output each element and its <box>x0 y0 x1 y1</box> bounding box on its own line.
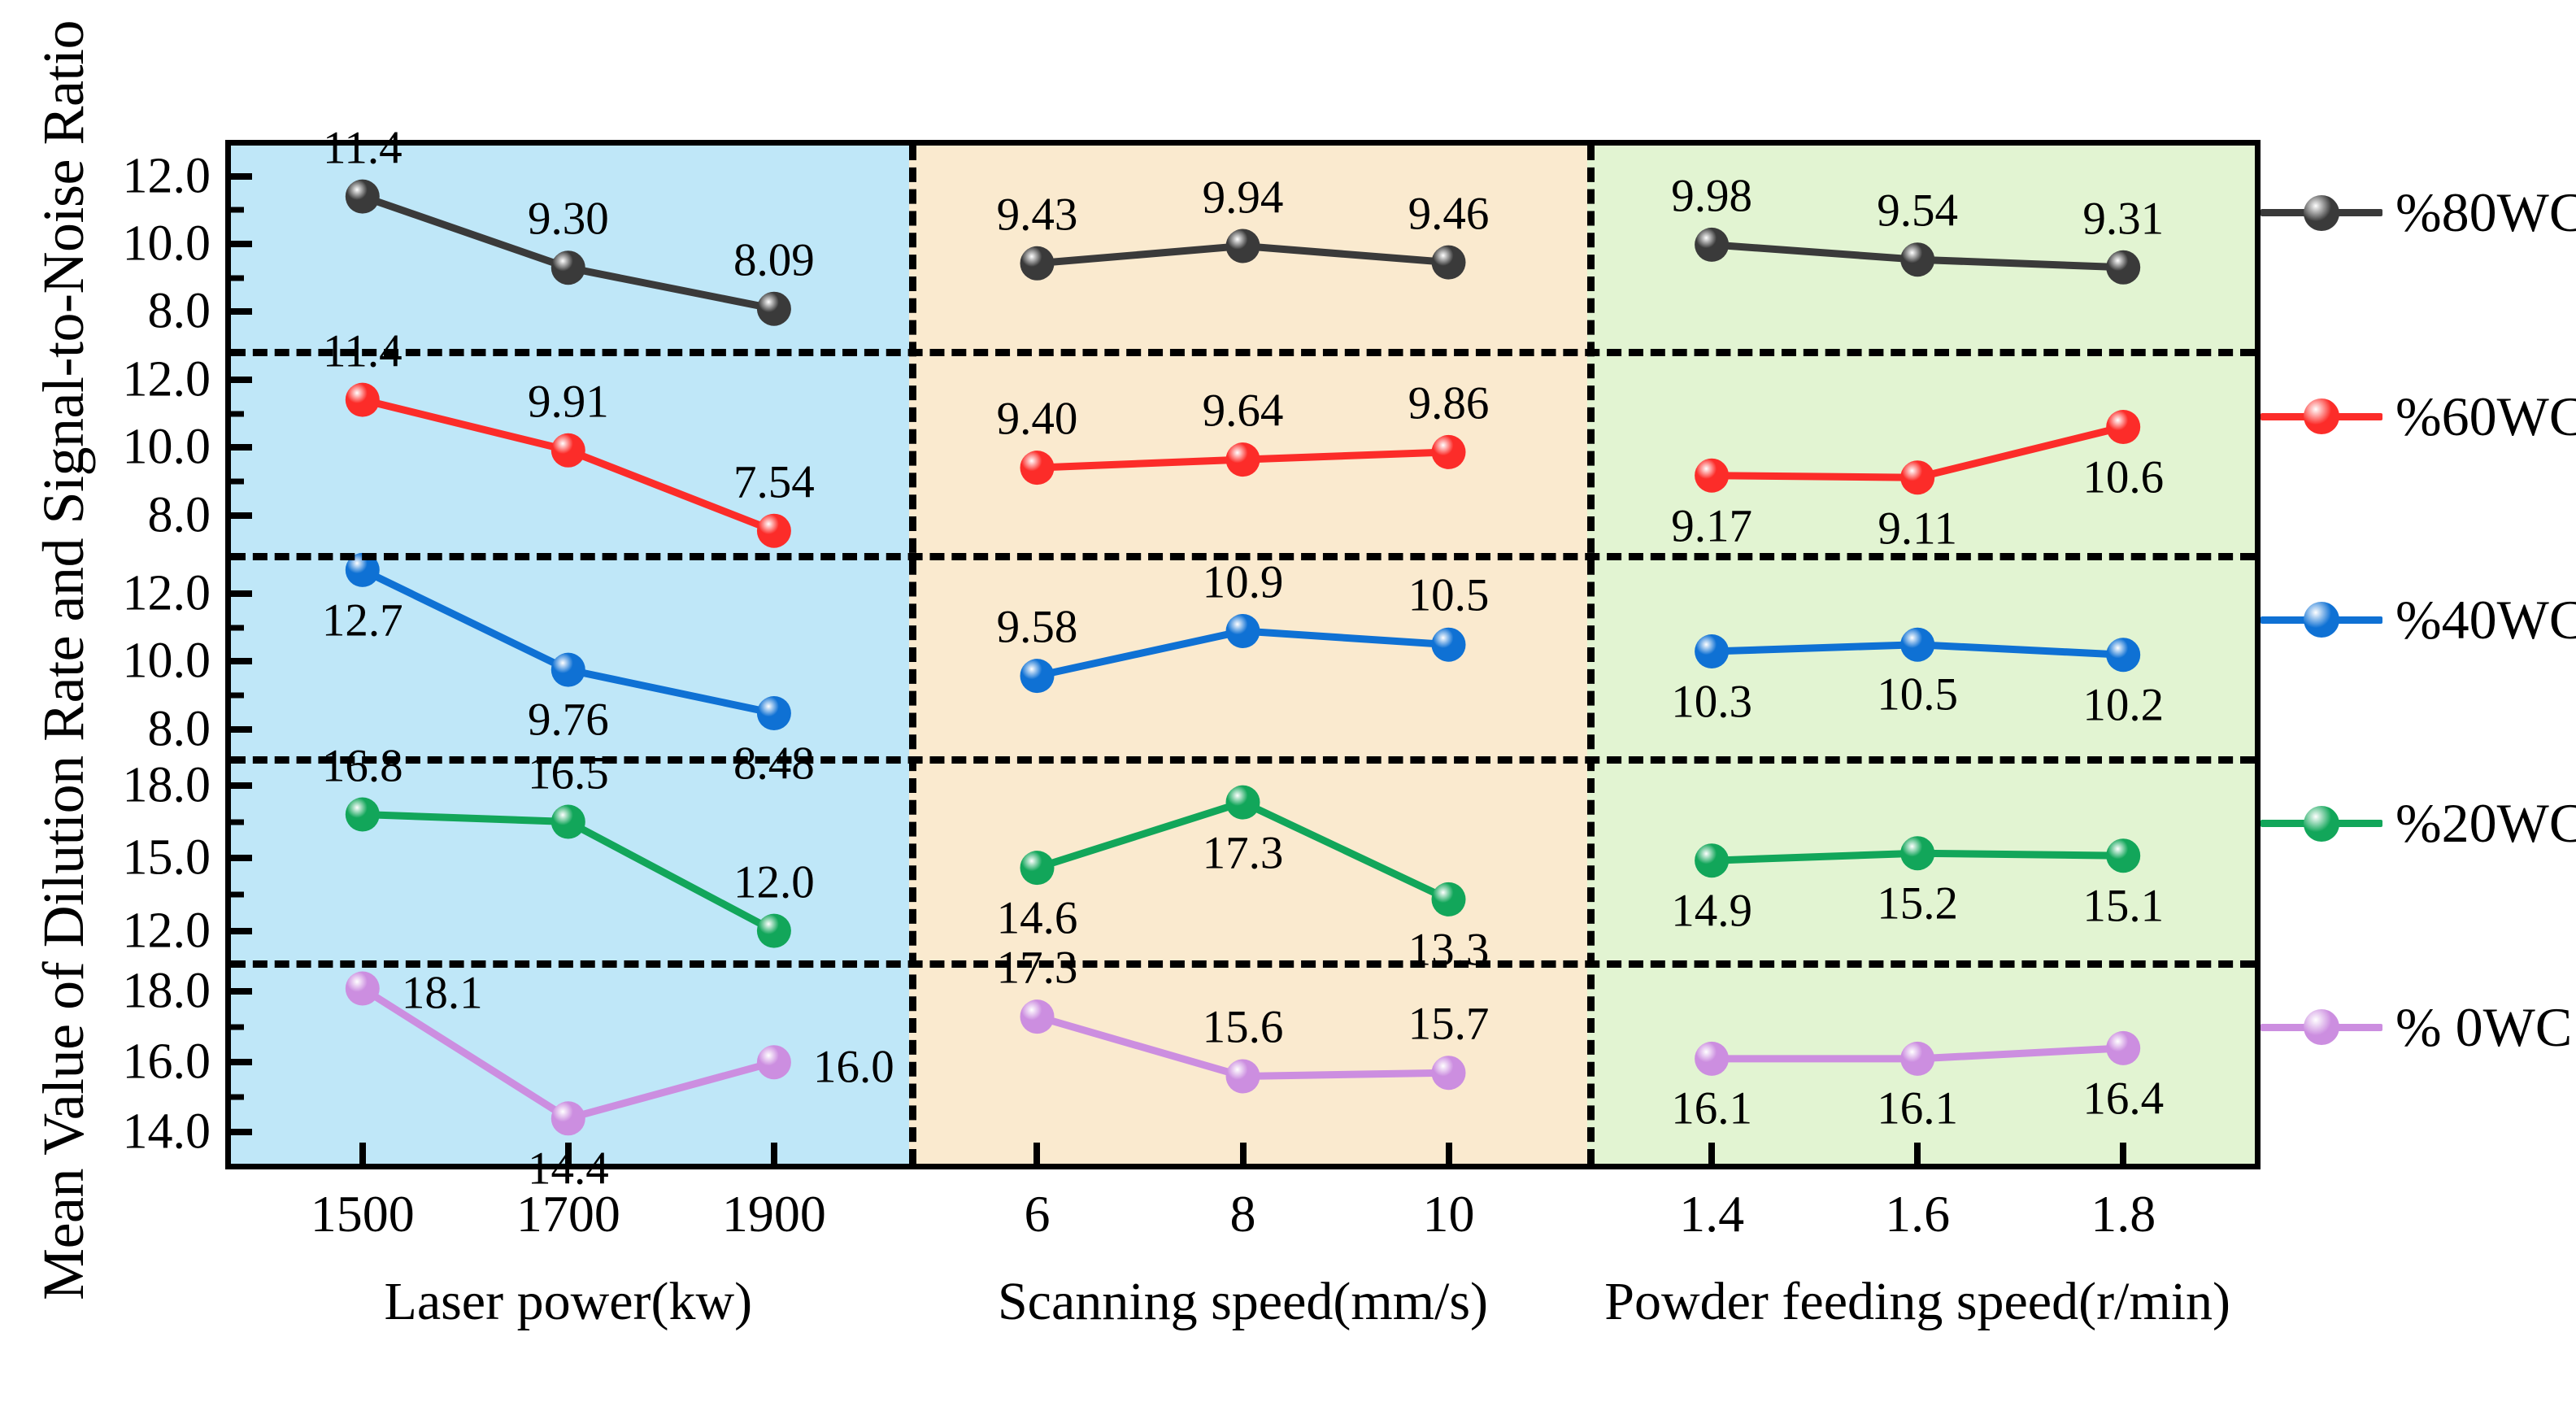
data-point <box>551 652 585 686</box>
data-label: 9.31 <box>2082 195 2164 242</box>
series-row-2: 11.49.917.549.409.649.869.179.1110.6 <box>231 349 2255 552</box>
y-tick-mark <box>231 928 252 934</box>
y-tick-mark <box>231 590 252 597</box>
data-point <box>1020 999 1055 1034</box>
x-tick-label: 1500 <box>311 1184 415 1244</box>
legend-label: %60WC <box>2395 385 2576 449</box>
y-tick-label: 18.0 <box>24 963 211 1021</box>
y-tick-mark <box>231 512 252 519</box>
x-tick-mark <box>1914 1143 1921 1164</box>
y-minor-tick-mark <box>231 1094 244 1099</box>
data-point <box>1226 1059 1260 1093</box>
data-point <box>757 292 791 326</box>
series-line <box>363 570 774 713</box>
y-minor-tick-mark <box>231 275 244 281</box>
y-tick-mark <box>231 1059 252 1065</box>
data-point <box>2106 250 2140 285</box>
data-point <box>1226 229 1260 263</box>
y-tick-label: 12.0 <box>24 350 211 408</box>
data-label: 10.5 <box>1877 672 1958 718</box>
data-label: 9.40 <box>997 396 1078 442</box>
data-label: 9.98 <box>1671 172 1752 219</box>
legend-item-80wc[interactable]: %80WC <box>2261 189 2576 237</box>
data-point <box>551 805 585 839</box>
y-tick-label: 8.0 <box>24 486 211 544</box>
data-label: 14.9 <box>1671 888 1752 934</box>
data-point <box>1695 1041 1729 1075</box>
x-tick-mark <box>359 1143 366 1164</box>
y-tick-mark <box>231 308 252 315</box>
data-point <box>1900 627 1934 661</box>
x-tick-mark <box>1033 1143 1040 1164</box>
data-point <box>2106 1030 2140 1065</box>
y-tick-label: 12.0 <box>24 564 211 622</box>
series-row-5: 18.114.416.017.315.615.716.116.116.4 <box>231 960 2255 1164</box>
data-point <box>1226 442 1260 477</box>
y-tick-label: 14.0 <box>24 1104 211 1161</box>
data-label: 9.30 <box>528 196 609 242</box>
y-tick-label: 8.0 <box>24 283 211 341</box>
legend-item-0wc[interactable]: % 0WC <box>2261 1003 2572 1051</box>
data-point <box>757 696 791 730</box>
y-tick-label: 15.0 <box>24 829 211 887</box>
data-label: 9.17 <box>1671 503 1752 550</box>
x-axis-title-3: Powder feeding speed(r/min) <box>1604 1271 2230 1333</box>
x-tick-mark <box>2120 1143 2126 1164</box>
data-label: 16.4 <box>2082 1075 2164 1121</box>
data-label: 8.09 <box>733 237 815 283</box>
legend: %80WC%60WC%40WC%20WC% 0WC <box>2261 140 2576 1169</box>
data-point <box>551 433 585 468</box>
legend-label: % 0WC <box>2395 995 2572 1060</box>
data-point <box>1695 843 1729 877</box>
x-axis-title-1: Laser power(kw) <box>385 1271 753 1333</box>
data-point <box>346 180 380 214</box>
data-point <box>1432 882 1466 917</box>
data-label: 9.58 <box>997 603 1078 650</box>
y-tick-label: 16.0 <box>24 1033 211 1091</box>
y-tick-label: 8.0 <box>24 700 211 758</box>
data-label: 16.8 <box>322 742 403 789</box>
data-point <box>1432 1056 1466 1090</box>
legend-marker <box>2304 195 2339 231</box>
data-label: 9.76 <box>528 697 609 743</box>
y-minor-tick-mark <box>231 479 244 485</box>
x-tick-mark <box>1708 1143 1715 1164</box>
horizontal-separator-3 <box>231 756 2255 764</box>
y-tick-label: 12.0 <box>24 902 211 960</box>
data-point <box>346 971 380 1005</box>
data-point <box>346 383 380 417</box>
y-tick-label: 10.0 <box>24 216 211 273</box>
data-label: 9.91 <box>528 379 609 425</box>
data-label: 16.0 <box>813 1043 894 1090</box>
y-tick-mark <box>231 726 252 733</box>
data-label: 15.1 <box>2082 883 2164 930</box>
data-label: 9.11 <box>1878 505 1957 551</box>
y-tick-mark <box>231 377 252 383</box>
data-point <box>2106 410 2140 444</box>
y-minor-tick-mark <box>231 819 244 825</box>
legend-label: %40WC <box>2395 588 2576 652</box>
data-point <box>1020 659 1055 693</box>
data-label: 18.1 <box>402 970 483 1017</box>
legend-marker <box>2304 806 2339 842</box>
horizontal-separator-1 <box>231 349 2255 356</box>
chart-root: Mean Value of Dilution Rate and Signal-t… <box>0 0 2576 1402</box>
data-label: 7.54 <box>733 459 815 506</box>
x-tick-label: 6 <box>1024 1184 1050 1244</box>
y-tick-mark <box>231 782 252 789</box>
legend-marker <box>2304 1009 2339 1045</box>
x-tick-mark <box>771 1143 777 1164</box>
data-label: 17.3 <box>997 944 1078 991</box>
data-point <box>1432 246 1466 280</box>
horizontal-separator-2 <box>231 553 2255 560</box>
data-label: 14.6 <box>997 895 1078 942</box>
y-minor-tick-mark <box>231 625 244 630</box>
data-label: 15.2 <box>1877 881 1958 927</box>
y-minor-tick-mark <box>231 207 244 213</box>
x-tick-label: 1900 <box>722 1184 826 1244</box>
data-point <box>1020 851 1055 885</box>
data-label: 9.94 <box>1203 174 1284 220</box>
data-point <box>346 798 380 832</box>
data-point <box>757 1045 791 1079</box>
data-label: 16.1 <box>1877 1086 1958 1132</box>
data-point <box>1226 786 1260 820</box>
x-tick-label: 1.6 <box>1885 1184 1950 1244</box>
y-minor-tick-mark <box>231 892 244 898</box>
data-point <box>551 1101 585 1135</box>
y-tick-mark <box>231 855 252 861</box>
data-point <box>1695 634 1729 668</box>
data-point <box>1432 435 1466 469</box>
data-point <box>1020 246 1055 281</box>
data-point <box>1226 614 1260 648</box>
data-point <box>1020 451 1055 485</box>
data-point <box>1900 1041 1934 1075</box>
data-label: 9.54 <box>1877 188 1958 234</box>
x-tick-mark <box>1446 1143 1452 1164</box>
legend-marker <box>2304 398 2339 434</box>
y-tick-mark <box>231 1129 252 1135</box>
data-point <box>1900 836 1934 870</box>
x-tick-label: 8 <box>1230 1184 1256 1244</box>
y-tick-mark <box>231 988 252 995</box>
data-label: 12.0 <box>733 859 815 905</box>
data-label: 11.4 <box>323 124 402 171</box>
y-minor-tick-mark <box>231 693 244 699</box>
data-point <box>1695 228 1729 262</box>
legend-label: %20WC <box>2395 791 2576 856</box>
legend-label: %80WC <box>2395 181 2576 245</box>
data-point <box>1432 627 1466 661</box>
data-point <box>551 250 585 285</box>
y-tick-label: 10.0 <box>24 419 211 477</box>
x-tick-mark <box>565 1143 572 1164</box>
series-row-4: 16.816.512.014.617.313.314.915.215.1 <box>231 756 2255 960</box>
data-label: 10.3 <box>1671 678 1752 725</box>
legend-item-40wc[interactable]: %40WC <box>2261 595 2576 644</box>
data-label: 12.7 <box>322 597 403 643</box>
x-tick-label: 1700 <box>516 1184 620 1244</box>
x-tick-mark <box>1240 1143 1247 1164</box>
x-tick-label: 10 <box>1423 1184 1475 1244</box>
data-label: 10.6 <box>2082 455 2164 501</box>
data-label: 15.6 <box>1203 1004 1284 1051</box>
data-label: 16.1 <box>1671 1086 1752 1132</box>
x-tick-label: 1.8 <box>2091 1184 2156 1244</box>
legend-item-60wc[interactable]: %60WC <box>2261 392 2576 441</box>
data-label: 15.7 <box>1408 1000 1490 1047</box>
y-tick-label: 18.0 <box>24 756 211 814</box>
data-label: 9.43 <box>997 191 1078 237</box>
y-tick-mark <box>231 241 252 247</box>
legend-item-20wc[interactable]: %20WC <box>2261 799 2576 848</box>
data-label: 9.46 <box>1408 190 1490 237</box>
series-row-1: 11.49.308.099.439.949.469.989.549.31 <box>231 146 2255 349</box>
y-tick-mark <box>231 444 252 451</box>
data-label: 17.3 <box>1203 829 1284 876</box>
data-label: 10.5 <box>1408 573 1490 619</box>
plot-area: 11.49.308.099.439.949.469.989.549.3111.4… <box>225 140 2261 1169</box>
data-point <box>757 514 791 548</box>
y-minor-tick-mark <box>231 1024 244 1030</box>
data-label: 10.9 <box>1203 559 1284 605</box>
y-tick-label: 12.0 <box>24 147 211 205</box>
data-point <box>1900 461 1934 495</box>
series-row-3: 12.79.768.489.5810.910.510.310.510.2 <box>231 553 2255 756</box>
data-point <box>2106 638 2140 672</box>
x-axis-title-2: Scanning speed(mm/s) <box>998 1271 1488 1333</box>
data-label: 9.86 <box>1408 381 1490 427</box>
data-label: 10.2 <box>2082 681 2164 728</box>
data-point <box>1900 242 1934 276</box>
y-tick-mark <box>231 658 252 664</box>
data-point <box>2106 838 2140 873</box>
legend-marker <box>2304 602 2339 638</box>
data-label: 9.64 <box>1203 388 1284 434</box>
y-minor-tick-mark <box>231 411 244 416</box>
x-tick-label: 1.4 <box>1679 1184 1744 1244</box>
y-tick-mark <box>231 173 252 180</box>
data-point <box>1695 459 1729 493</box>
data-point <box>757 914 791 948</box>
y-tick-label: 10.0 <box>24 633 211 690</box>
horizontal-separator-4 <box>231 960 2255 968</box>
